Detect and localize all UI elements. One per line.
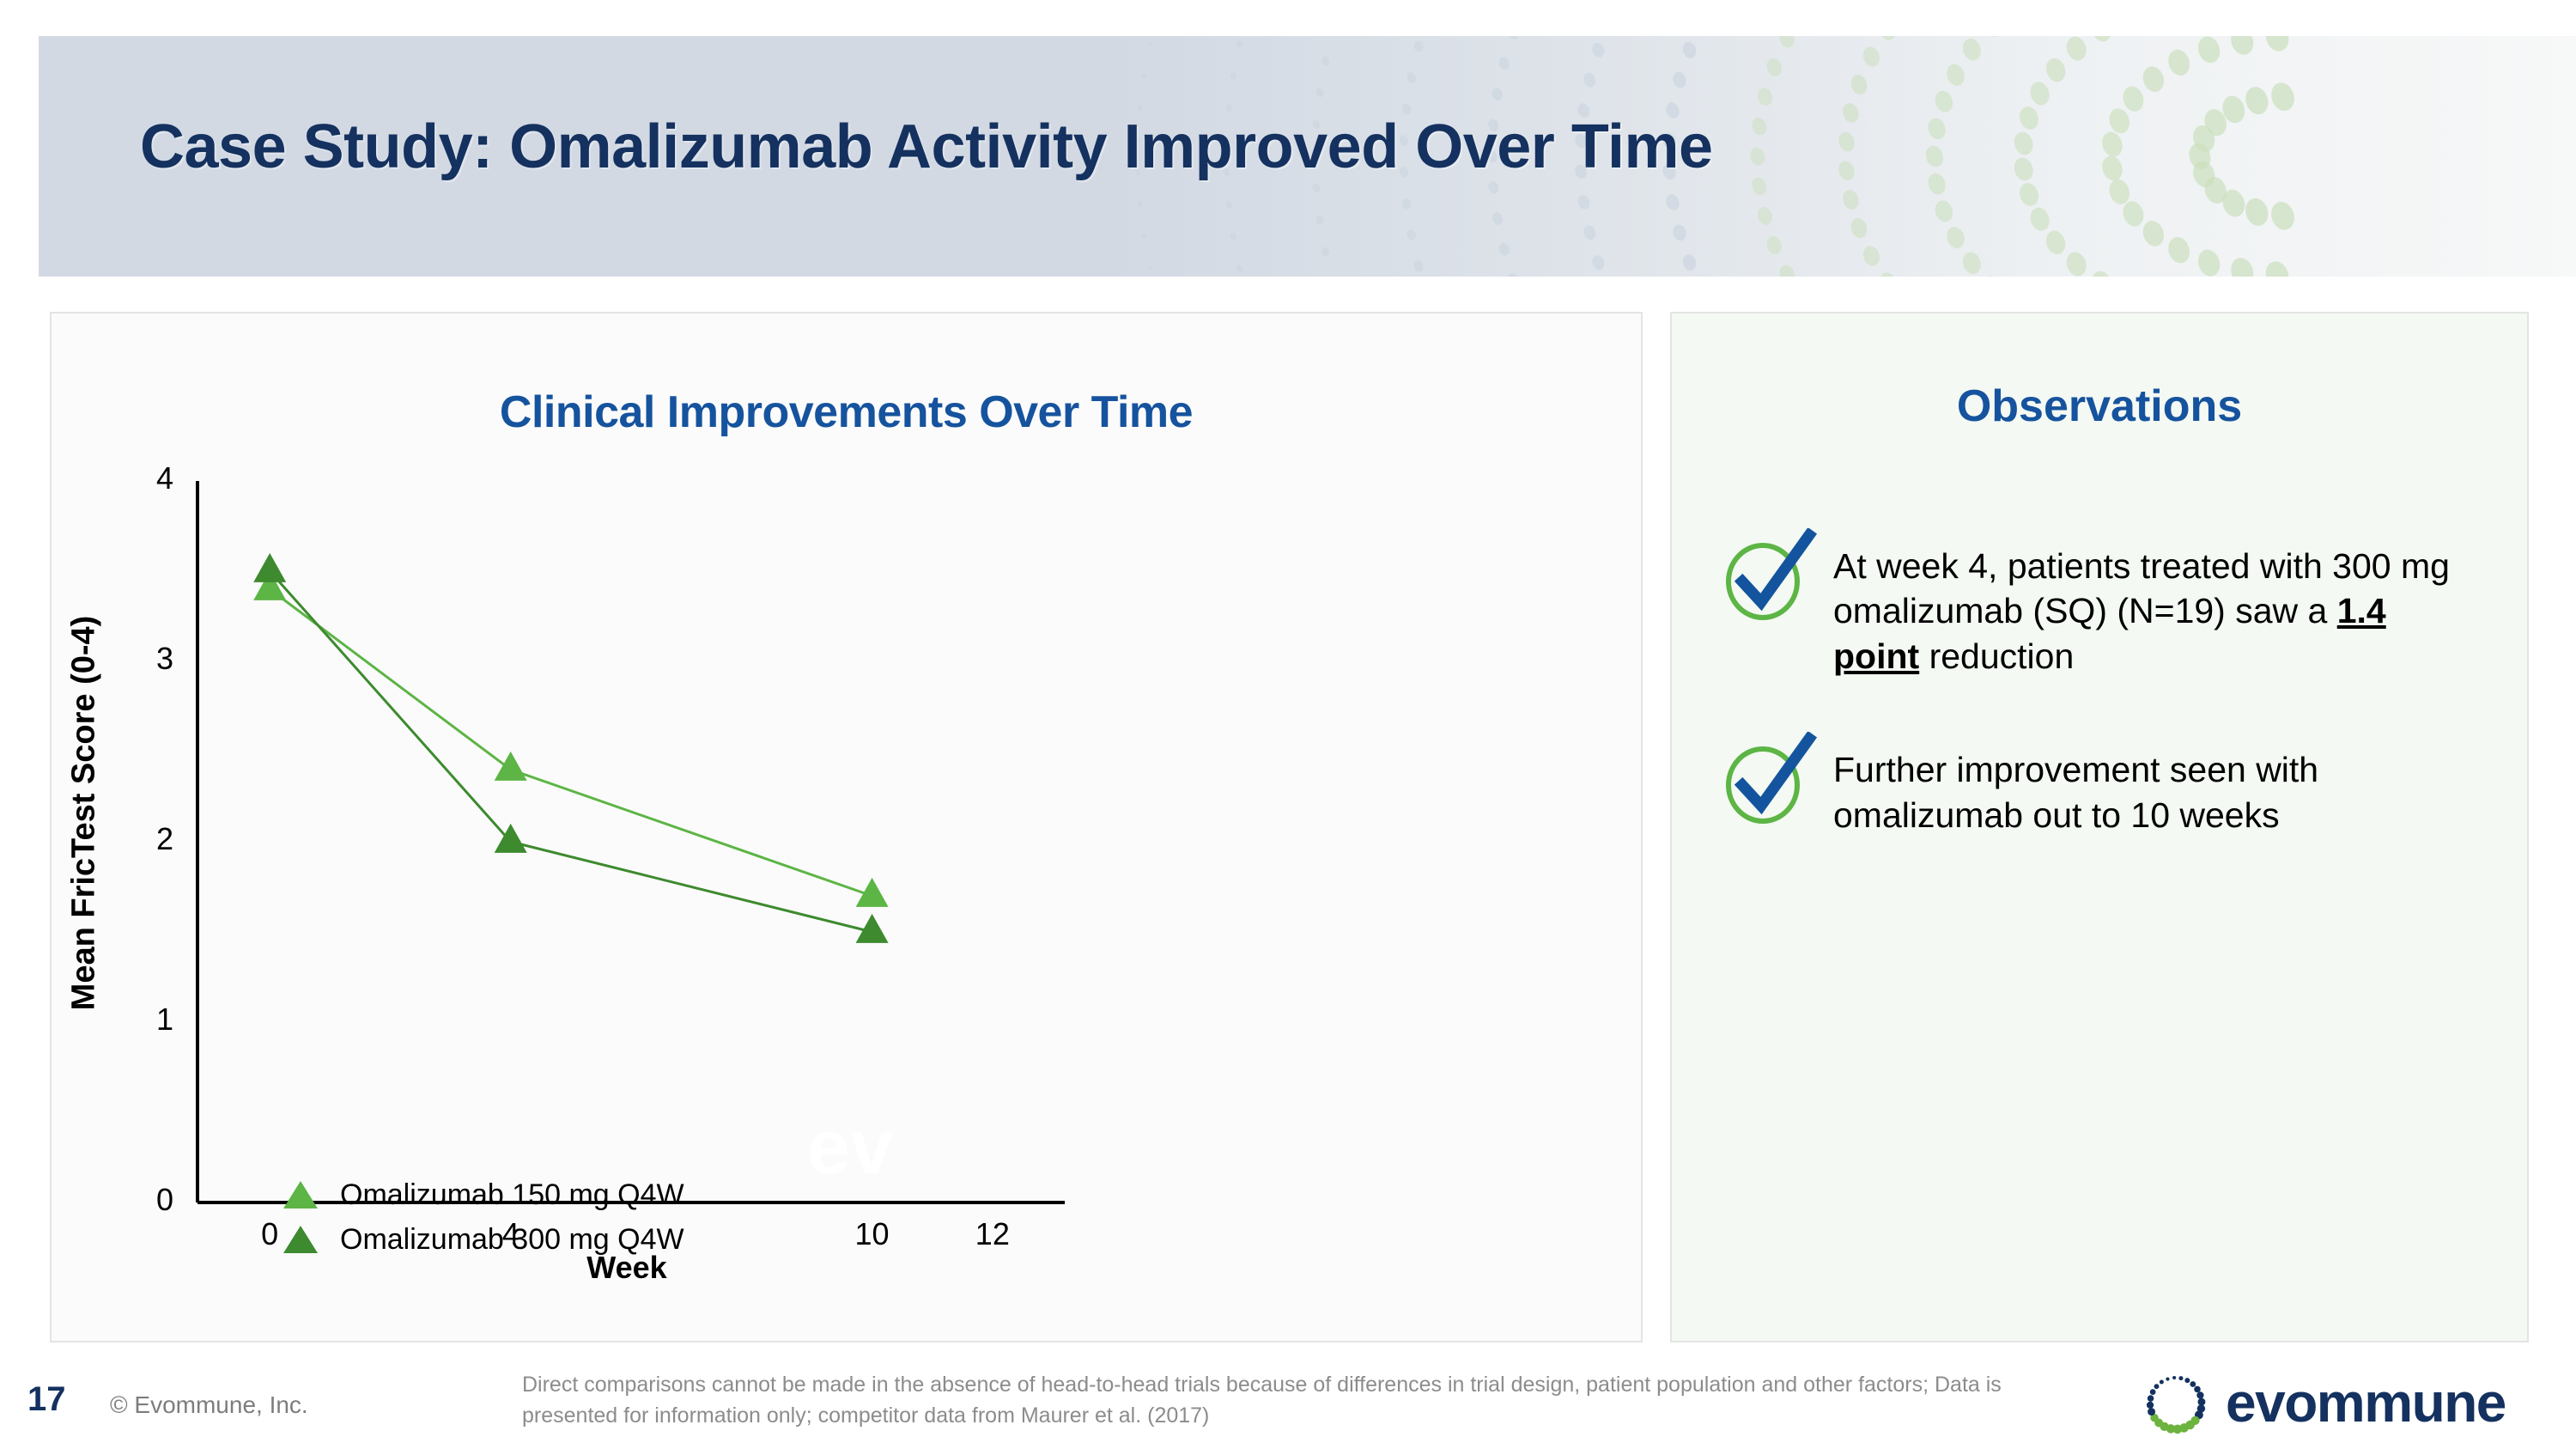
legend-item: Omalizumab 300 mg Q4W bbox=[283, 1217, 684, 1262]
logo-dot bbox=[2166, 1378, 2169, 1381]
logo-dot bbox=[2154, 1384, 2160, 1389]
logo-dot bbox=[2150, 1389, 2156, 1395]
x-tick-label: 12 bbox=[941, 1216, 1044, 1252]
footnote-citation: Direct comparisons cannot be made in the… bbox=[522, 1369, 2068, 1432]
logo-dot bbox=[2160, 1380, 2164, 1385]
y-axis-label: Mean FricTest Score (0-4) bbox=[66, 599, 103, 1028]
y-tick-label: 2 bbox=[122, 821, 173, 857]
logo-dot bbox=[2178, 1376, 2183, 1380]
logo-dot bbox=[2147, 1402, 2154, 1409]
logo-wordmark: evommune bbox=[2226, 1371, 2506, 1434]
header-banner: Case Study: Omalizumab Activity Improved… bbox=[39, 36, 2576, 277]
legend-label: Omalizumab 300 mg Q4W bbox=[340, 1223, 684, 1257]
page-number: 17 bbox=[27, 1380, 66, 1419]
series-marker-triangle bbox=[253, 553, 286, 582]
y-tick-label: 0 bbox=[122, 1182, 173, 1218]
check-circle-icon bbox=[1720, 528, 1821, 623]
legend-item: Omalizumab 150 mg Q4W bbox=[283, 1172, 684, 1217]
observation-item: At week 4, patients treated with 300 mg … bbox=[1720, 528, 2493, 679]
logo-dot bbox=[2184, 1378, 2190, 1383]
legend-label: Omalizumab 150 mg Q4W bbox=[340, 1178, 684, 1212]
series-line bbox=[270, 571, 872, 932]
legend-triangle-icon bbox=[283, 1181, 318, 1209]
observation-emphasis: 1.4 point bbox=[1833, 591, 2386, 675]
copyright-text: © Evommune, Inc. bbox=[110, 1391, 308, 1419]
series-line bbox=[270, 589, 872, 896]
evommune-logo: evommune bbox=[2136, 1364, 2540, 1443]
slide: Case Study: Omalizumab Activity Improved… bbox=[0, 0, 2576, 1449]
y-tick-label: 1 bbox=[122, 1002, 173, 1038]
observation-text: Further improvement seen with omalizumab… bbox=[1833, 732, 2469, 837]
series-marker-triangle bbox=[495, 752, 527, 781]
x-tick-label: 10 bbox=[821, 1216, 924, 1252]
logo-dot bbox=[2148, 1408, 2155, 1416]
logo-dot bbox=[2190, 1381, 2196, 1387]
logo-dot bbox=[2196, 1391, 2203, 1398]
logo-dot bbox=[2148, 1395, 2154, 1402]
observations-list: At week 4, patients treated with 300 mg … bbox=[1720, 528, 2493, 891]
chart-panel: Clinical Improvements Over Time ev Mean … bbox=[50, 312, 1643, 1342]
logo-dot bbox=[2194, 1386, 2201, 1393]
chart-legend: Omalizumab 150 mg Q4WOmalizumab 300 mg Q… bbox=[283, 1172, 684, 1262]
y-tick-label: 3 bbox=[122, 641, 173, 677]
observations-title: Observations bbox=[1672, 381, 2527, 432]
logo-dot bbox=[2172, 1376, 2176, 1379]
y-tick-label: 4 bbox=[122, 460, 173, 496]
check-circle-icon bbox=[1720, 732, 1821, 826]
observations-panel: Observations At week 4, patients treated… bbox=[1670, 312, 2529, 1342]
observation-item: Further improvement seen with omalizumab… bbox=[1720, 732, 2493, 837]
logo-dot-circle-icon bbox=[2136, 1364, 2215, 1443]
page-title: Case Study: Omalizumab Activity Improved… bbox=[140, 112, 1713, 182]
observation-text: At week 4, patients treated with 300 mg … bbox=[1833, 528, 2469, 679]
legend-triangle-icon bbox=[283, 1226, 318, 1253]
